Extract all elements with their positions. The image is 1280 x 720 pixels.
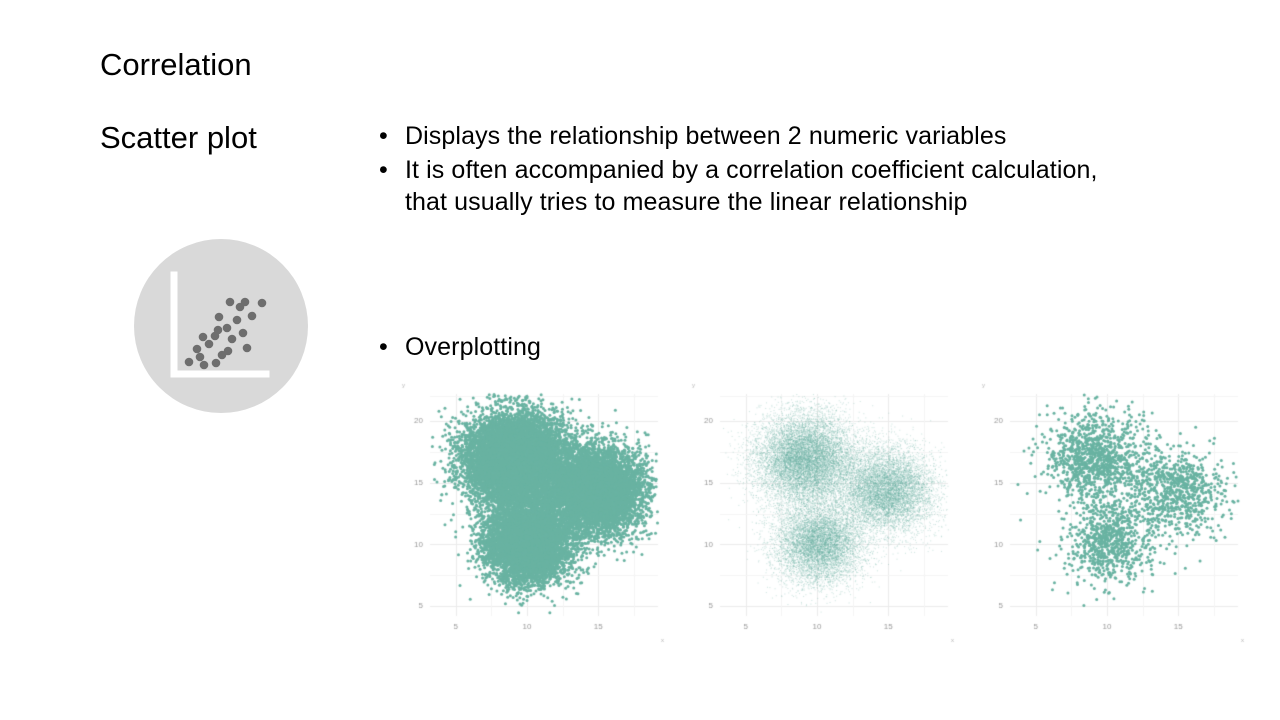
list-item: • Overplotting	[379, 331, 1179, 363]
scatter-plot-canvas-2	[686, 378, 958, 646]
scatter-plot-panel	[976, 378, 1248, 646]
bullet-marker-icon: •	[379, 154, 405, 186]
scatter-plot-canvas-1	[396, 378, 668, 646]
bullet-marker-icon: •	[379, 331, 405, 363]
page-title: Correlation	[100, 48, 252, 82]
bullet-text: It is often accompanied by a correlation…	[405, 154, 1145, 218]
bullet-list-primary: • Displays the relationship between 2 nu…	[379, 120, 1179, 220]
icon-background-circle	[134, 239, 308, 413]
scatter-plot-strip	[396, 378, 1252, 646]
scatter-plot-icon	[133, 238, 309, 414]
list-item: • Displays the relationship between 2 nu…	[379, 120, 1179, 152]
bullet-text: Displays the relationship between 2 nume…	[405, 120, 1179, 152]
bullet-marker-icon: •	[379, 120, 405, 152]
bullet-list-secondary: • Overplotting	[379, 331, 1179, 365]
slide-subtitle: Scatter plot	[100, 121, 257, 155]
scatter-plot-canvas-3	[976, 378, 1248, 646]
bullet-text: Overplotting	[405, 331, 1179, 363]
list-item: • It is often accompanied by a correlati…	[379, 154, 1179, 218]
scatter-plot-panel	[686, 378, 958, 646]
scatter-plot-panel	[396, 378, 668, 646]
